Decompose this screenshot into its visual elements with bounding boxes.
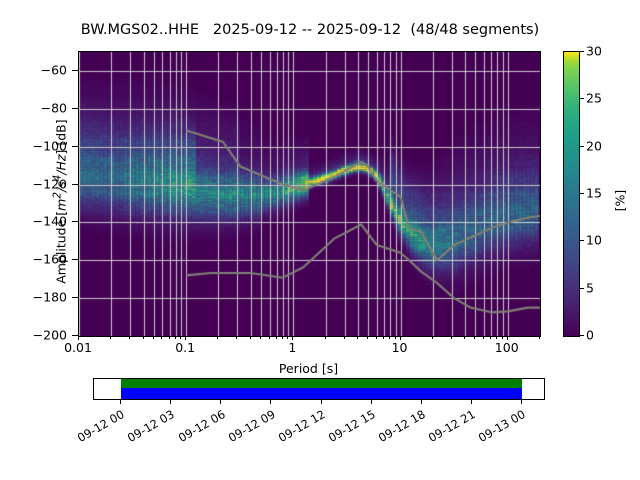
x-minor-tick-mark [217, 336, 218, 339]
timeline-tick-mark [521, 400, 522, 404]
x-axis-label: Period [s] [78, 361, 539, 376]
x-minor-tick-mark [474, 336, 475, 339]
x-minor-tick-mark [143, 336, 144, 339]
colorbar-tick-label: 5 [586, 280, 594, 295]
timeline-tick-mark [321, 400, 322, 404]
y-tick-label: −100 [33, 138, 67, 153]
x-minor-tick-mark [539, 336, 540, 339]
data-coverage-timeline[interactable] [93, 378, 545, 400]
x-minor-tick-mark [383, 336, 384, 339]
x-minor-tick-mark [502, 336, 503, 339]
x-minor-tick-mark [110, 336, 111, 339]
colorbar-tick-label: 20 [586, 138, 602, 153]
x-minor-tick-mark [376, 336, 377, 339]
timeline-tick-label: 09-12 09 [226, 407, 278, 445]
y-tick-mark [72, 297, 78, 298]
timeline-tick-label: 09-12 06 [175, 407, 227, 445]
colorbar-label: [%] [613, 141, 628, 261]
timeline-tick-label: 09-13 00 [476, 407, 528, 445]
x-minor-tick-mark [395, 336, 396, 339]
x-tick-label: 0.01 [64, 340, 92, 355]
ppsd-heatmap-canvas [79, 52, 540, 336]
colorbar-tick-mark [579, 240, 584, 241]
x-minor-tick-mark [153, 336, 154, 339]
timeline-tick-label: 09-12 00 [75, 407, 127, 445]
y-tick-mark [72, 259, 78, 260]
x-minor-tick-mark [483, 336, 484, 339]
x-minor-tick-mark [367, 336, 368, 339]
x-tick-label: 100 [495, 340, 519, 355]
colorbar-tick-label: 30 [586, 44, 602, 59]
x-minor-tick-mark [490, 336, 491, 339]
y-tick-mark [72, 108, 78, 109]
colorbar-tick-mark [579, 288, 584, 289]
y-tick-label: −60 [41, 62, 67, 77]
timeline-tick-label: 09-12 12 [276, 407, 328, 445]
x-tick-label: 0.1 [175, 340, 195, 355]
colorbar-tick-label: 25 [586, 91, 602, 106]
timeline-tick-label: 09-12 21 [426, 407, 478, 445]
y-tick-mark [72, 184, 78, 185]
timeline-tick-mark [170, 400, 171, 404]
page-title: BW.MGS02..HHE 2025-09-12 -- 2025-09-12 (… [0, 22, 620, 38]
x-minor-tick-mark [344, 336, 345, 339]
timeline-tick-mark [270, 400, 271, 404]
coverage-bar-green [121, 379, 522, 388]
y-tick-label: −80 [41, 100, 67, 115]
x-minor-tick-mark [129, 336, 130, 339]
timeline-tick-label: 09-12 03 [125, 407, 177, 445]
x-minor-tick-mark [269, 336, 270, 339]
colorbar-tick-label: 15 [586, 186, 602, 201]
timeline-tick-mark [371, 400, 372, 404]
colorbar-tick-mark [579, 51, 584, 52]
x-tick-label: 10 [392, 340, 408, 355]
timeline-tick-mark [471, 400, 472, 404]
y-tick-mark [72, 221, 78, 222]
y-axis-label: Amplitude [m2/s4/Hz] [dB] [51, 52, 68, 352]
x-minor-tick-mark [236, 336, 237, 339]
x-minor-tick-mark [464, 336, 465, 339]
coverage-bar-blue [121, 388, 522, 399]
timeline-tick-mark [421, 400, 422, 404]
timeline-tick-mark [120, 400, 121, 404]
colorbar-tick-mark [579, 335, 584, 336]
x-minor-tick-mark [287, 336, 288, 339]
y-tick-label: −160 [33, 252, 67, 267]
y-tick-mark [72, 146, 78, 147]
colorbar-tick-mark [579, 146, 584, 147]
timeline-tick-label: 09-12 15 [326, 407, 378, 445]
x-minor-tick-mark [451, 336, 452, 339]
x-minor-tick-mark [169, 336, 170, 339]
timeline-tick-label: 09-12 18 [376, 407, 428, 445]
x-minor-tick-mark [260, 336, 261, 339]
y-tick-label: −180 [33, 290, 67, 305]
colorbar-tick-mark [579, 98, 584, 99]
colorbar-tick-label: 10 [586, 233, 602, 248]
x-minor-tick-mark [180, 336, 181, 339]
colorbar [563, 51, 580, 337]
x-minor-tick-mark [276, 336, 277, 339]
ppsd-figure: BW.MGS02..HHE 2025-09-12 -- 2025-09-12 (… [0, 0, 640, 480]
x-minor-tick-mark [432, 336, 433, 339]
ppsd-plot-area [78, 51, 541, 337]
x-minor-tick-mark [389, 336, 390, 339]
colorbar-tick-label: 0 [586, 328, 594, 343]
x-minor-tick-mark [282, 336, 283, 339]
y-tick-label: −120 [33, 176, 67, 191]
y-tick-mark [72, 70, 78, 71]
x-minor-tick-mark [175, 336, 176, 339]
x-minor-tick-mark [161, 336, 162, 339]
x-minor-tick-mark [357, 336, 358, 339]
x-minor-tick-mark [250, 336, 251, 339]
y-tick-label: −140 [33, 214, 67, 229]
timeline-tick-mark [220, 400, 221, 404]
y-tick-label: −200 [33, 328, 67, 343]
colorbar-tick-mark [579, 193, 584, 194]
x-minor-tick-mark [496, 336, 497, 339]
x-minor-tick-mark [325, 336, 326, 339]
x-tick-label: 1 [288, 340, 296, 355]
